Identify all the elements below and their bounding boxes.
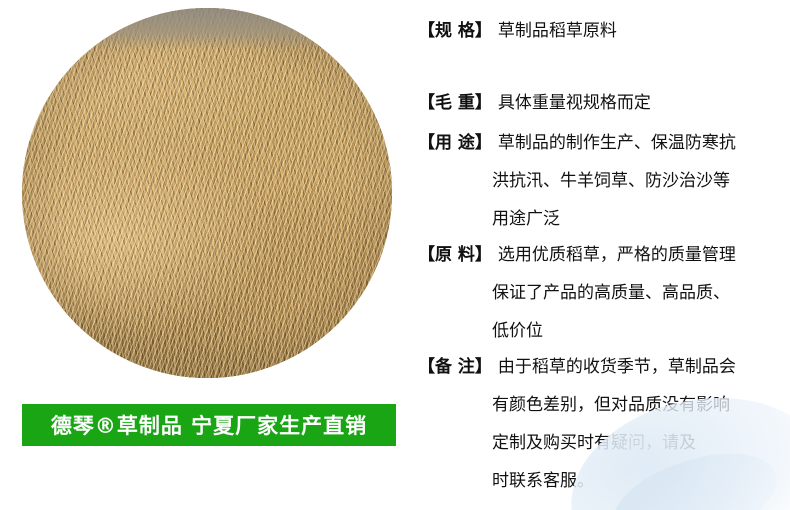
straw-pile-image [22,8,392,378]
spec-label-yuanliao: 【原 料】 [418,240,492,265]
spec-value-yongtu-line-2: 洪抗汛、牛羊饲草、防沙治沙等 [492,162,778,200]
spec-value-yuanliao-line-2: 保证了产品的高质量、高品质、 [492,274,778,312]
spec-label-beizhu: 【备 注】 [418,352,492,377]
caption-banner: 德琴®草制品 宁夏厂家生产直销 [22,404,396,446]
product-detail-page: 德琴®草制品 宁夏厂家生产直销 【规 格】 草制品稻草原料 【毛 重】 具体重量… [0,0,790,510]
spec-value-yuanliao-line-3: 低价位 [492,312,778,350]
spec-value-yongtu-line-1: 草制品的制作生产、保温防寒抗 [498,124,736,162]
spec-value-yuanliao-line-1: 选用优质稻草，严格的质量管理 [498,236,736,274]
spec-value-maozhong-line-1: 具体重量视规格而定 [498,84,651,122]
spec-row-yongtu: 【用 途】 草制品的制作生产、保温防寒抗 洪抗汛、牛羊饲草、防沙治沙等 用途广泛 [418,124,778,238]
spec-row-maozhong: 【毛 重】 具体重量视规格而定 [418,84,778,122]
spec-row-yuanliao: 【原 料】 选用优质稻草，严格的质量管理 保证了产品的高质量、高品质、 低价位 [418,236,778,350]
spec-value-yongtu-line-3: 用途广泛 [492,200,778,238]
spec-value-beizhu-line-1: 由于稻草的收货季节，草制品会 [498,348,736,386]
spec-label-yongtu: 【用 途】 [418,128,492,153]
spec-row-guige: 【规 格】 草制品稻草原料 [418,12,778,50]
caption-text: 德琴®草制品 宁夏厂家生产直销 [51,410,367,440]
spec-label-guige: 【规 格】 [418,16,492,41]
product-photo [22,8,392,378]
spec-value-guige-line-1: 草制品稻草原料 [498,12,617,50]
spec-label-maozhong: 【毛 重】 [418,88,492,113]
photo-sky-band [22,8,392,50]
